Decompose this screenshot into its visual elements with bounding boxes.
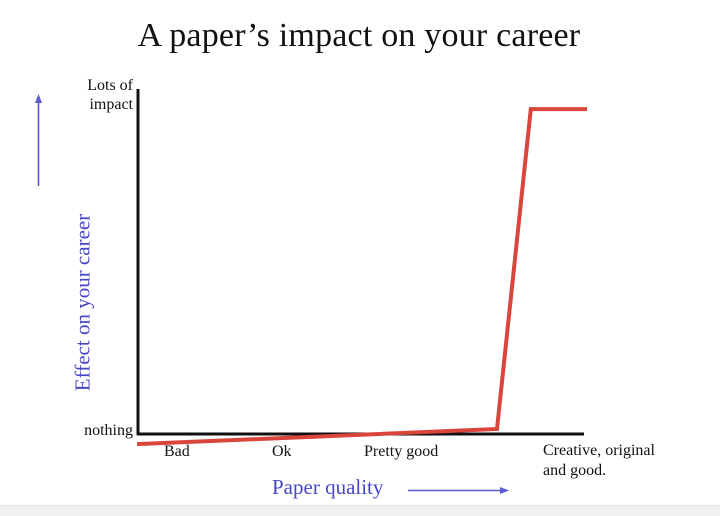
y-tick-label-top: Lots of impact — [33, 76, 133, 114]
x-tick-label-ok: Ok — [272, 442, 292, 462]
impact-curve — [137, 109, 587, 444]
right-arrow-icon — [408, 487, 509, 494]
y-axis-title: Effect on your career — [71, 158, 96, 448]
x-tick-label-creative-line2: and good. — [543, 461, 693, 481]
y-tick-label-top-line1: Lots of — [33, 76, 133, 95]
x-tick-label-pretty-good: Pretty good — [364, 442, 438, 462]
x-tick-label-creative-line1: Creative, original — [543, 441, 693, 461]
y-tick-label-top-line2: impact — [33, 95, 133, 114]
x-axis-title: Paper quality — [272, 475, 383, 500]
slide-canvas: A paper’s impact on your career Lots of … — [0, 0, 720, 516]
x-tick-label-creative: Creative, original and good. — [543, 441, 693, 481]
window-bottom-strip — [0, 505, 720, 516]
x-tick-label-bad: Bad — [164, 442, 190, 462]
